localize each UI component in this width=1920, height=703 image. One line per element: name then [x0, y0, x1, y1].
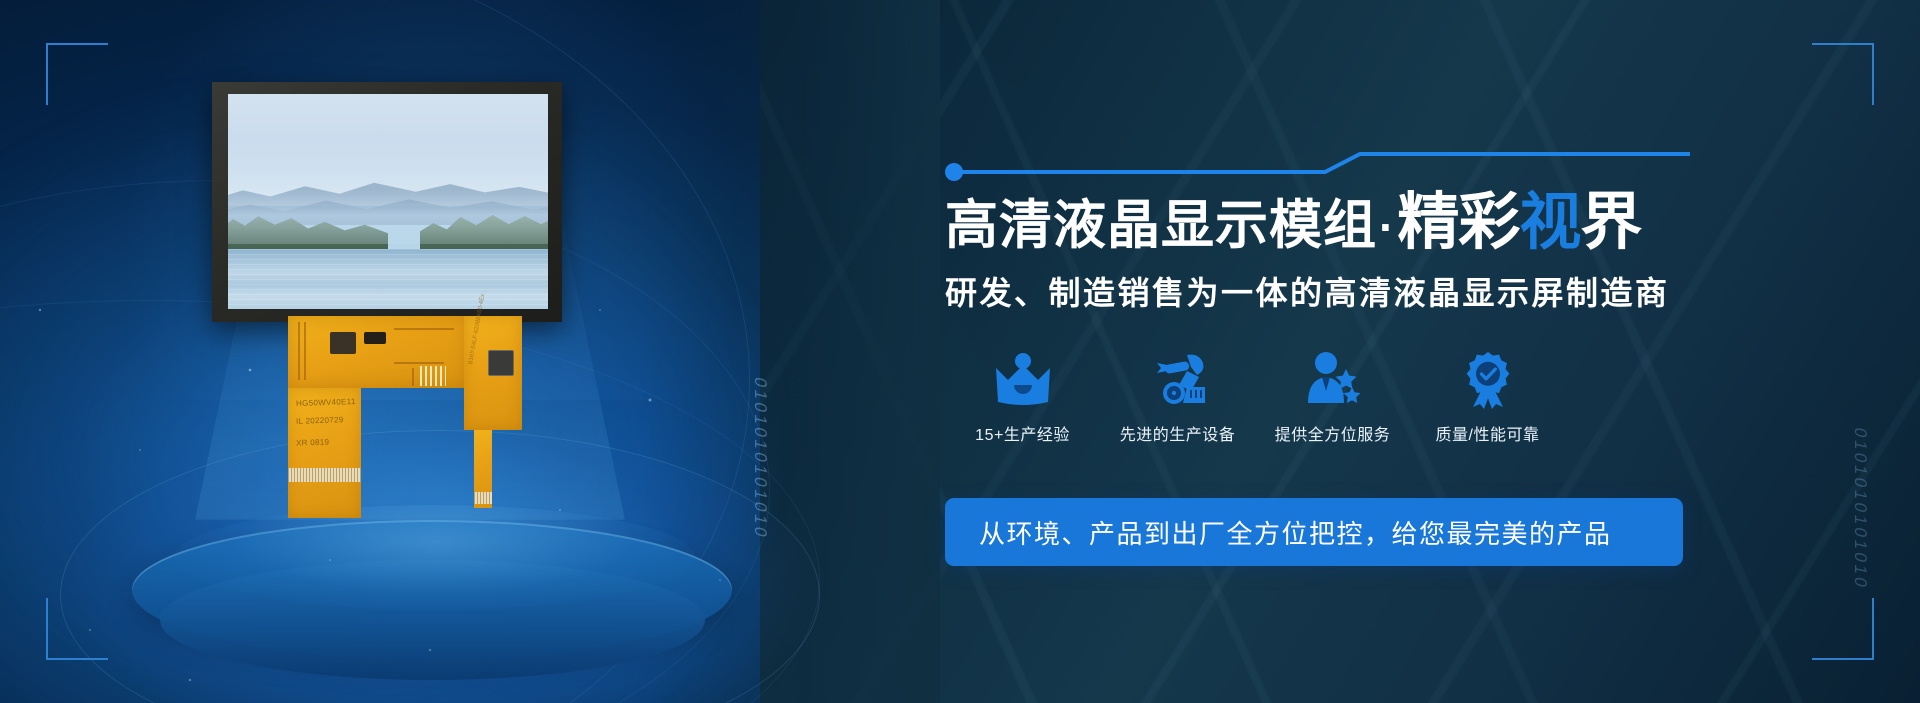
banner-content: 高清液晶显示模组·精彩视界 研发、制造销售为一体的高清液晶显示屏制造商 15+生…	[945, 0, 1875, 703]
brand-part-2: 视	[1519, 188, 1580, 257]
fpc-label-date: IL 20220729	[296, 415, 344, 426]
corner-bracket-bottom-left	[46, 598, 108, 660]
page-title: 高清液晶显示模组·精彩视界	[945, 192, 1641, 254]
brand-wordmark: 精彩视界	[1397, 188, 1641, 257]
screen-haze	[228, 189, 548, 245]
feature-item: 提供全方位服务	[1255, 345, 1410, 445]
touch-controller-chip	[488, 350, 514, 376]
award-badge-icon	[1410, 345, 1565, 415]
pcb-trace	[304, 322, 306, 380]
feature-item: 15+生产经验	[945, 345, 1100, 445]
fpc-gold-connector-touch	[474, 492, 492, 504]
fpc-label-batch: XR 0819	[296, 437, 330, 447]
headline-prefix: 高清液晶显示模组	[945, 196, 1377, 255]
pcb-trace	[298, 322, 300, 380]
crown-icon	[945, 345, 1100, 415]
person-stars-icon	[1255, 345, 1410, 415]
brand-part-3: 界	[1580, 188, 1641, 257]
feature-label: 质量/性能可靠	[1410, 421, 1565, 445]
cta-text: 从环境、产品到出厂全方位把控，给您最完美的产品	[979, 514, 1612, 551]
robot-arm-icon	[1100, 345, 1255, 415]
headline-accent-line	[945, 150, 1690, 192]
headline-separator: ·	[1377, 201, 1397, 253]
fpc-gold-connector	[288, 468, 361, 482]
pcb-trace	[394, 362, 444, 364]
pcb-trace	[394, 328, 454, 330]
pcb-chip	[364, 332, 386, 344]
lcd-module-product-image: HG50WV40E11 IL 20220729 XR 0819 B16Y-54L…	[212, 82, 632, 482]
lcd-bezel	[212, 82, 562, 322]
accent-polyline-icon	[945, 150, 1690, 192]
feature-label: 15+生产经验	[945, 421, 1100, 445]
page-subtitle: 研发、制造销售为一体的高清液晶显示屏制造商	[945, 268, 1670, 314]
corner-bracket-top-left	[46, 43, 108, 105]
screen-lake	[228, 249, 548, 309]
feature-item: 质量/性能可靠	[1410, 345, 1565, 445]
feature-label: 先进的生产设备	[1100, 421, 1255, 445]
brand-part-1: 精彩	[1397, 188, 1519, 257]
feature-label: 提供全方位服务	[1255, 421, 1410, 445]
lcd-screen-landscape	[228, 94, 548, 309]
binary-code-decor-left: 0101010101010	[750, 375, 770, 542]
feature-item: 先进的生产设备	[1100, 345, 1255, 445]
pcb-trace	[412, 368, 414, 386]
pcb-contact-fingers	[420, 366, 446, 386]
product-hero-banner: 0101010101010 0101010101010	[0, 0, 1920, 703]
pcb-chip	[330, 332, 356, 354]
cta-banner[interactable]: 从环境、产品到出厂全方位把控，给您最完美的产品	[945, 498, 1683, 566]
feature-list: 15+生产经验	[945, 345, 1565, 445]
